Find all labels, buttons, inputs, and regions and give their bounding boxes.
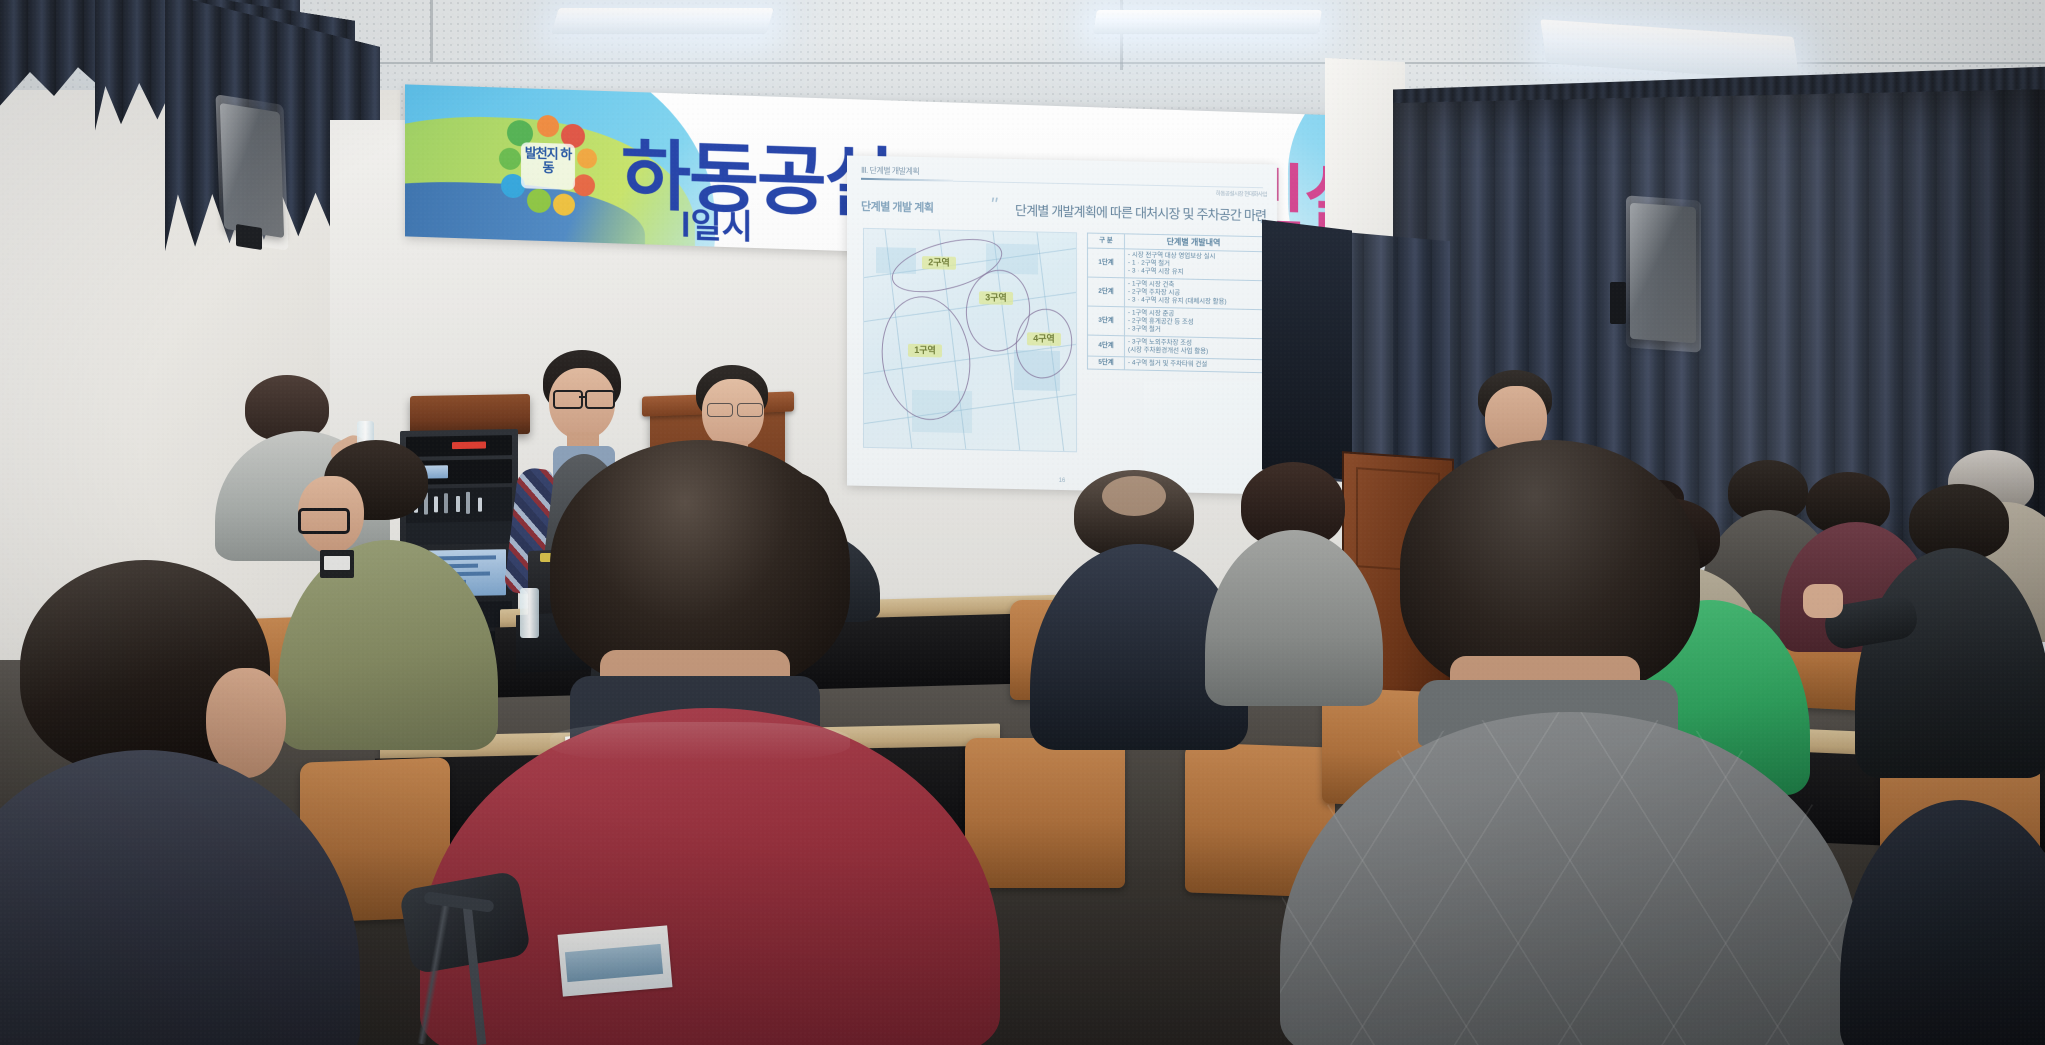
stage-key: 2단계 [1088, 277, 1125, 307]
stage-detail: - 1구역 시장 준공- 2구역 휴게공간 등 조성- 3구역 철거 [1125, 307, 1263, 339]
balding-crown [1102, 476, 1166, 516]
stage-key: 5단계 [1088, 356, 1125, 370]
audience-foreground-left [0, 560, 340, 1045]
stage-detail: - 4구역 철거 및 주차타워 건설 [1125, 357, 1263, 373]
stage-detail: - 1구역 시장 건축- 2구역 주차장 시공- 3 · 4구역 시장 유지 (… [1125, 278, 1263, 310]
quote-open: " [990, 194, 997, 217]
table-row: 3단계- 1구역 시장 준공- 2구역 휴게공간 등 조성- 3구역 철거 [1088, 306, 1263, 339]
stage-key: 1단계 [1088, 248, 1125, 278]
col-header-division: 구 분 [1088, 233, 1125, 249]
zone-label: 4구역 [1027, 332, 1061, 346]
stage-detail-line: - 3 · 4구역 시장 유지 [1128, 267, 1259, 278]
audience-foreground-right-edge [1840, 800, 2045, 1045]
audience-foreground-grey-quilt [1290, 440, 1850, 1045]
glasses-icon [707, 403, 733, 417]
speaker-plastic-wrap [1626, 195, 1701, 352]
development-zone-map: 2구역 3구역 1구역 4구역 [863, 228, 1077, 452]
table-row: 5단계- 4구역 철거 및 주차타워 건설 [1088, 356, 1263, 373]
stage-plan-table: 구 분 단계별 개발내역 1단계- 시장 전구역 대상 영업보상 실시- 1 ·… [1087, 233, 1263, 374]
zone-label: 1구역 [908, 344, 942, 358]
glasses-icon [585, 390, 615, 409]
slide-section-header: Ⅲ. 단계별 개발계획 [861, 165, 919, 177]
audience-black-jacket-right [1855, 548, 2045, 788]
logo-text: 발천지 하동 [523, 146, 573, 175]
stage-detail-line: - 4구역 철거 및 주차타워 건설 [1128, 359, 1259, 370]
hadong-logo: 발천지 하동 [497, 111, 601, 218]
speaker-bracket [236, 224, 262, 250]
stage-detail-line: - 3 · 4구역 시장 유지 (대체시장 활용) [1128, 296, 1259, 307]
ceiling-light [551, 8, 773, 34]
glasses-icon [553, 390, 583, 409]
stage-key: 3단계 [1088, 306, 1125, 336]
stage-detail: - 3구역 노외주차장 조성 (시장 주차환경개선 사업 활용) [1125, 336, 1263, 360]
ceiling-seam [430, 0, 433, 62]
banner-subtitle: l일시 [681, 198, 753, 249]
zone-label: 2구역 [922, 256, 956, 270]
stage-key: 4단계 [1088, 335, 1125, 357]
zone-label: 3구역 [979, 291, 1013, 305]
stage-detail-line: (시장 주차환경개선 사업 활용) [1128, 346, 1259, 357]
table-row: 2단계- 1구역 시장 건축- 2구역 주차장 시공- 3 · 4구역 시장 유… [1088, 277, 1263, 310]
slide-headline: 단계별 개발계획에 따른 대처시장 및 주차공간 마련 [1015, 200, 1266, 224]
glasses-icon [737, 403, 763, 417]
quilt-pattern [1280, 712, 1860, 1045]
slide-sub-label: 단계별 개발 계획 [861, 198, 933, 216]
meeting-room-photo: 발천지 하동 하동공설 민설명회 l일시 Ⅲ. 단계별 개발계획 하동공설시장 … [0, 0, 2045, 1045]
speaker-bracket [1610, 282, 1626, 324]
stage-detail-line: - 3구역 철거 [1128, 325, 1259, 336]
slide-rule-thin [953, 181, 1263, 188]
table-row: 1단계- 시장 전구역 대상 영업보상 실시- 1 · 2구역 철거- 3 · … [1088, 248, 1263, 281]
stage-detail: - 시장 전구역 대상 영업보상 실시- 1 · 2구역 철거- 3 · 4구역… [1125, 249, 1263, 281]
slide-rule [861, 178, 953, 182]
slide-corner-note: 하동공설시장 현대화사업 [1216, 189, 1267, 198]
fabric-highlight [550, 722, 850, 762]
ceiling-light [1093, 10, 1322, 34]
glasses-icon [298, 508, 350, 534]
